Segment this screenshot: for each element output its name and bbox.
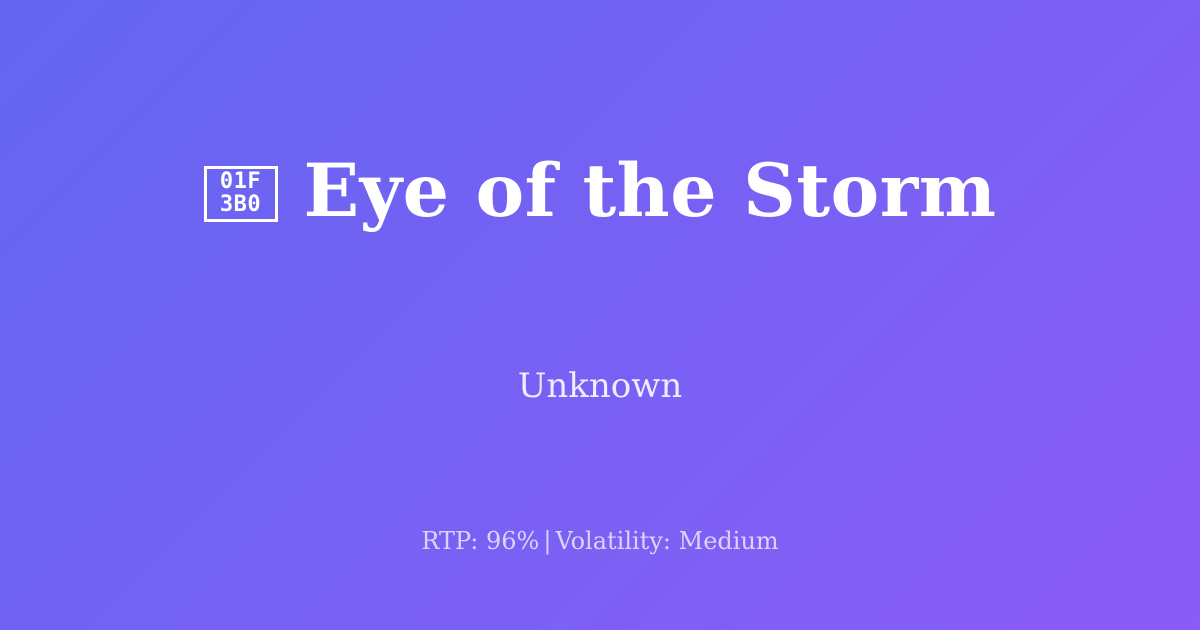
game-stats-line: RTP: 96%|Volatility: Medium bbox=[0, 525, 1200, 559]
page-title: Eye of the Storm bbox=[304, 155, 997, 228]
game-promo-card: 01F 3B0 Eye of the Storm Unknown RTP: 96… bbox=[0, 0, 1200, 630]
slot-machine-icon: 01F 3B0 bbox=[204, 166, 278, 222]
rtp-value: 96% bbox=[486, 527, 539, 555]
volatility-label: Volatility: bbox=[555, 527, 671, 555]
headline: 01F 3B0 Eye of the Storm bbox=[204, 155, 997, 228]
stats-separator: | bbox=[539, 527, 555, 555]
rtp-label: RTP: bbox=[421, 527, 478, 555]
tofu-hex-top: 01F bbox=[220, 171, 261, 193]
tofu-hex-bottom: 3B0 bbox=[220, 194, 261, 216]
volatility-value: Medium bbox=[679, 527, 779, 555]
game-provider-subtitle: Unknown bbox=[0, 364, 1200, 410]
